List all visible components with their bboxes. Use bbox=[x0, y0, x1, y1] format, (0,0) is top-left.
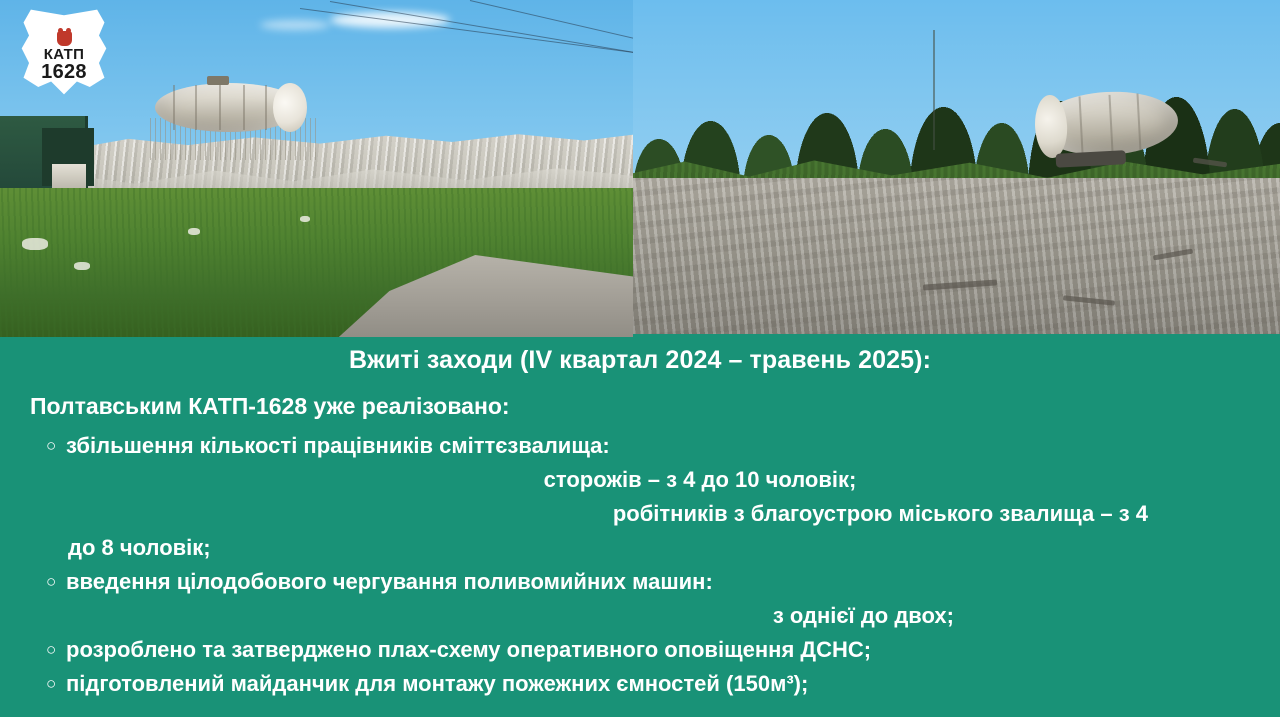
list-item: ○ підготовлений майданчик для монтажу по… bbox=[0, 667, 1280, 701]
bullet-list: ○ збільшення кількості працівників смітт… bbox=[0, 429, 1280, 701]
list-item-text: розроблено та затверджено плах-схему опе… bbox=[66, 633, 871, 667]
tank-band bbox=[243, 85, 245, 130]
slide-subtitle: Полтавським КАТП-1628 уже реалізовано: bbox=[0, 375, 1280, 420]
litter bbox=[22, 238, 48, 250]
tank-band bbox=[1079, 96, 1084, 153]
list-item-subline: з однієї до двох; bbox=[0, 599, 1280, 633]
bullet-marker: ○ bbox=[46, 667, 66, 701]
list-item: ○ розроблено та затверджено плах-схему о… bbox=[0, 633, 1280, 667]
list-item-text: підготовлений майданчик для монтажу поже… bbox=[66, 667, 808, 701]
bullet-marker: ○ bbox=[46, 633, 66, 667]
photo-right bbox=[633, 0, 1280, 334]
tank-band bbox=[195, 85, 197, 130]
list-item-subline: робітників з благоустрою міського звалищ… bbox=[0, 497, 1280, 531]
tank-band bbox=[265, 85, 267, 130]
slide-title: Вжиті заходи (IV квартал 2024 – травень … bbox=[0, 337, 1280, 375]
list-item-text: збільшення кількості працівників сміттєз… bbox=[66, 429, 610, 463]
crest-icon bbox=[57, 31, 72, 46]
logo-line-2: 1628 bbox=[41, 62, 87, 83]
green-shed bbox=[0, 116, 88, 188]
logo-line-1: КАТП bbox=[44, 47, 84, 63]
utility-pole bbox=[933, 30, 935, 150]
storage-tank-left bbox=[155, 83, 303, 132]
bullet-marker: ○ bbox=[46, 565, 66, 599]
litter bbox=[300, 216, 310, 222]
tank-band bbox=[1109, 95, 1114, 152]
tank-nozzle bbox=[207, 76, 229, 85]
content-panel: Вжиті заходи (IV квартал 2024 – травень … bbox=[0, 337, 1280, 717]
photo-band: КАТП 1628 bbox=[0, 0, 1280, 337]
list-item-subline: до 8 чоловік; bbox=[0, 531, 1280, 565]
litter bbox=[74, 262, 90, 270]
tank-band bbox=[1136, 93, 1141, 150]
list-item-subline: сторожів – з 4 до 10 чоловік; bbox=[0, 463, 1280, 497]
slide: КАТП 1628 Вжиті заходи (IV квартал 2024 … bbox=[0, 0, 1280, 717]
cloud bbox=[260, 20, 330, 30]
bullet-marker: ○ bbox=[46, 429, 66, 463]
tank-band bbox=[173, 85, 175, 130]
gravel-ground bbox=[633, 178, 1280, 334]
tank-band bbox=[219, 85, 221, 130]
list-item-text: введення цілодобового чергування поливом… bbox=[66, 565, 713, 599]
litter bbox=[188, 228, 200, 235]
list-item: ○ збільшення кількості працівників смітт… bbox=[0, 429, 1280, 463]
list-item: ○ введення цілодобового чергування полив… bbox=[0, 565, 1280, 599]
